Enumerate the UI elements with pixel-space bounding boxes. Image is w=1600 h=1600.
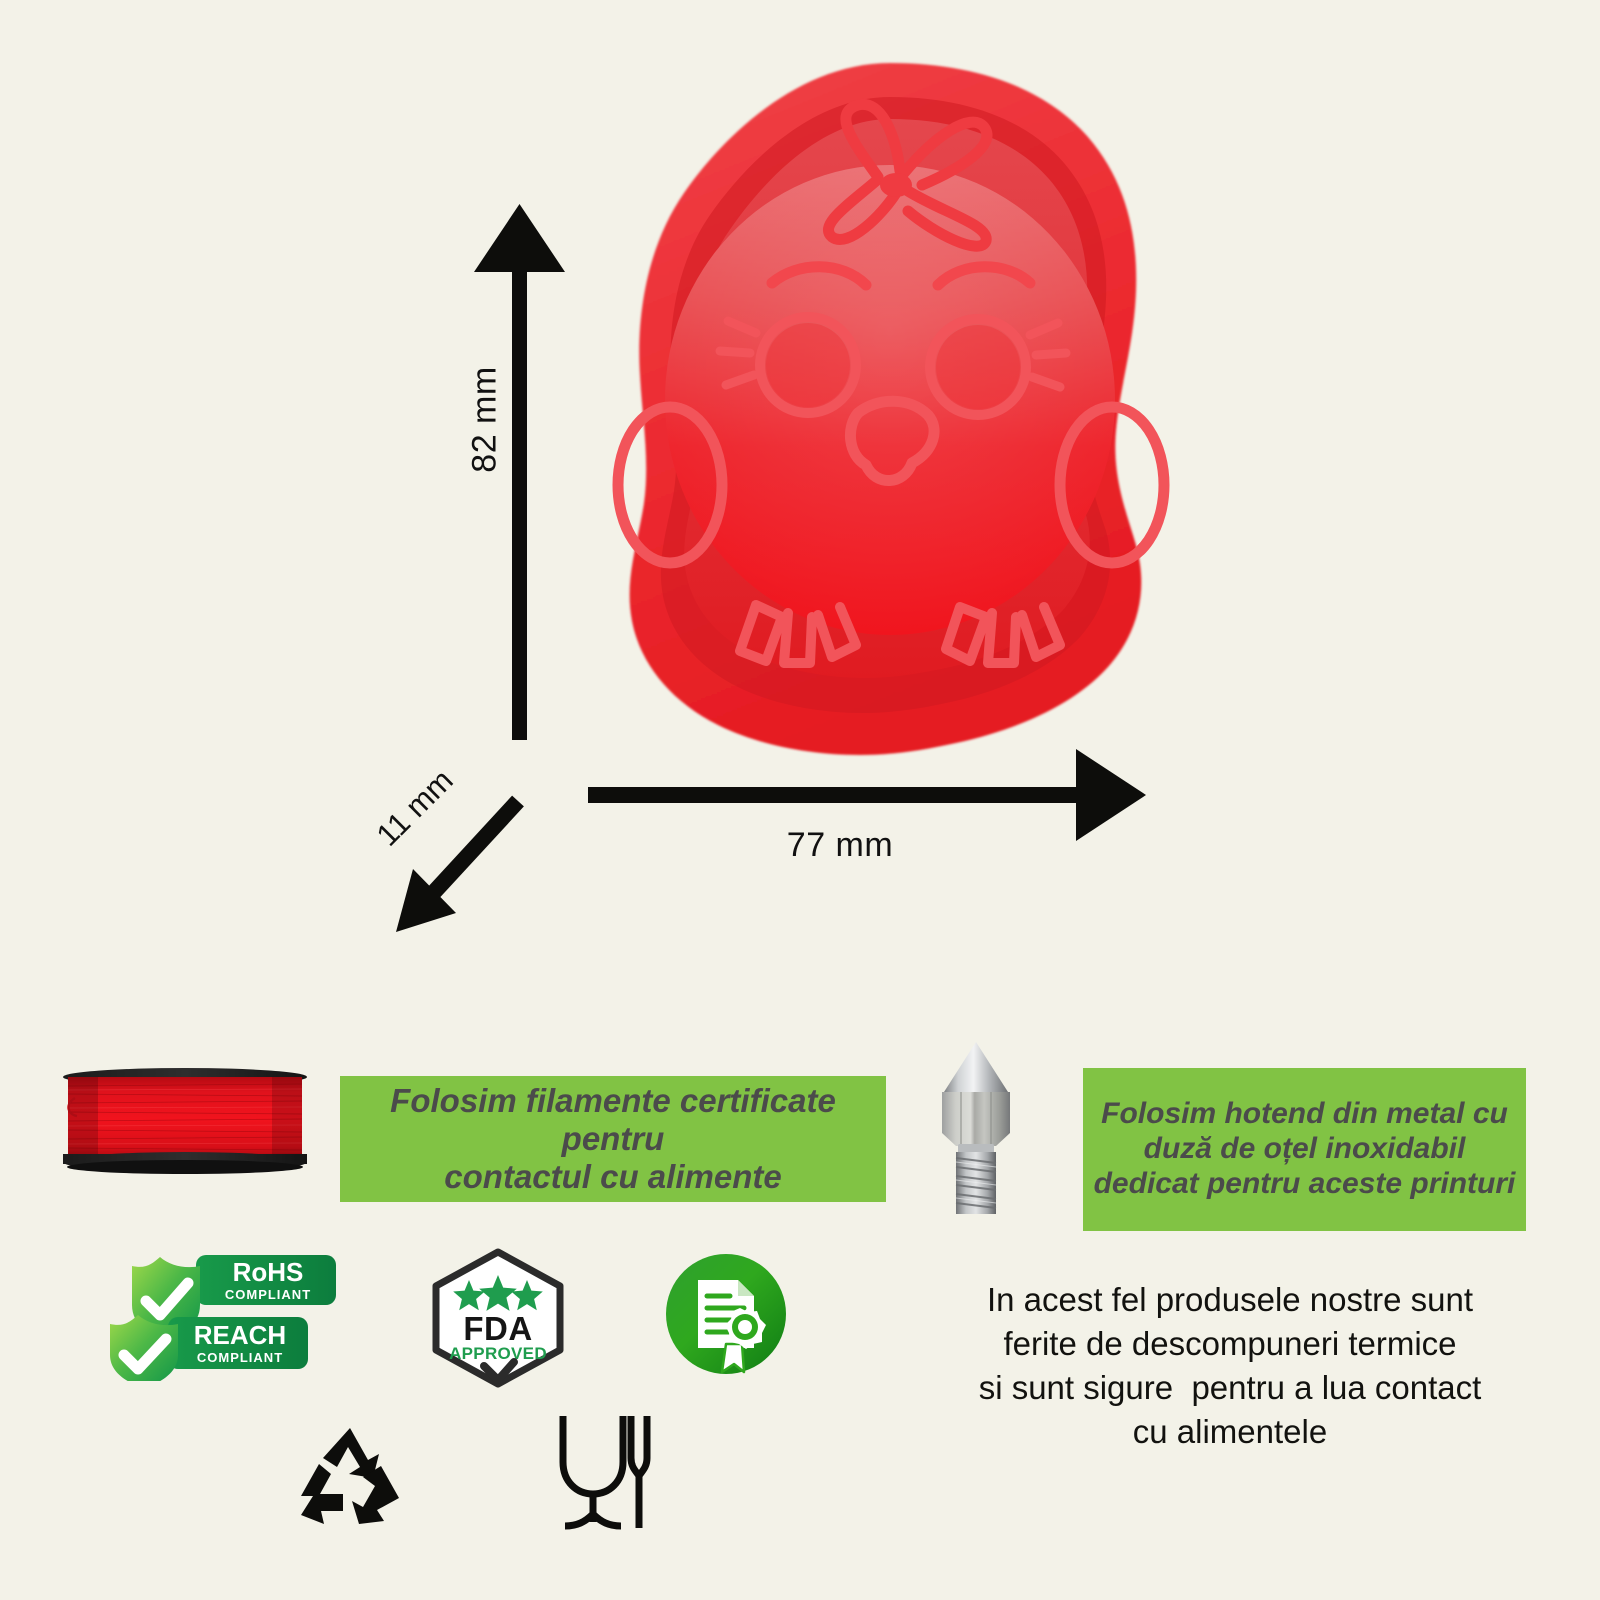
product-photo-chick-stamp xyxy=(560,45,1220,785)
recycle-illustration xyxy=(293,1420,407,1534)
banner-metal-hotend: Folosim hotend din metal cu duză de oțel… xyxy=(1083,1068,1526,1231)
badge-rohs-reach-compliant: RoHS COMPLIANT REACH COMPLIANT xyxy=(108,1233,336,1381)
safety-line-2: ferite de descompuneri termice xyxy=(960,1322,1500,1366)
printer-nozzle-icon xyxy=(928,1036,1024,1216)
recycle-icon xyxy=(293,1420,407,1534)
reach-title: REACH xyxy=(194,1320,286,1350)
safety-line-3: si sunt sigure pentru a lua contact xyxy=(960,1366,1500,1410)
safety-line-1: In acest fel produsele nostre sunt xyxy=(960,1278,1500,1322)
safety-line-4: cu alimentele xyxy=(960,1410,1500,1454)
filament-spool-illustration xyxy=(57,1050,313,1182)
dimension-depth-label: 11 mm xyxy=(342,735,488,881)
infographic-canvas: 82 mm 77 mm 11 mm xyxy=(0,0,1600,1600)
certificate-illustration xyxy=(664,1252,788,1376)
fda-title: FDA xyxy=(463,1310,532,1347)
chick-stamp-illustration xyxy=(560,45,1220,785)
banner-food-safe-filament: Folosim filamente certificate pentru con… xyxy=(340,1076,886,1202)
rohs-title: RoHS xyxy=(233,1257,304,1287)
food-safe-illustration xyxy=(549,1410,659,1536)
glass-and-fork-food-safe-icon xyxy=(549,1410,659,1536)
dimension-height-label: 82 mm xyxy=(466,340,505,500)
badge-certificate-document xyxy=(664,1252,788,1376)
rohs-reach-illustration: RoHS COMPLIANT REACH COMPLIANT xyxy=(108,1233,336,1381)
fda-illustration: FDA APPROVED xyxy=(424,1248,572,1388)
banner-filament-text: Folosim filamente certificate pentru con… xyxy=(350,1082,876,1197)
banner-hotend-text: Folosim hotend din metal cu duză de oțel… xyxy=(1094,1097,1516,1201)
fda-subtitle: APPROVED xyxy=(449,1344,547,1363)
rohs-subtitle: COMPLIANT xyxy=(225,1287,311,1302)
dimension-width-label: 77 mm xyxy=(700,826,980,865)
safety-paragraph: In acest fel produsele nostre sunt ferit… xyxy=(960,1278,1500,1454)
nozzle-illustration xyxy=(928,1036,1024,1216)
filament-spool-icon xyxy=(57,1050,313,1182)
reach-subtitle: COMPLIANT xyxy=(197,1350,283,1365)
badge-fda-approved: FDA APPROVED xyxy=(424,1248,572,1388)
